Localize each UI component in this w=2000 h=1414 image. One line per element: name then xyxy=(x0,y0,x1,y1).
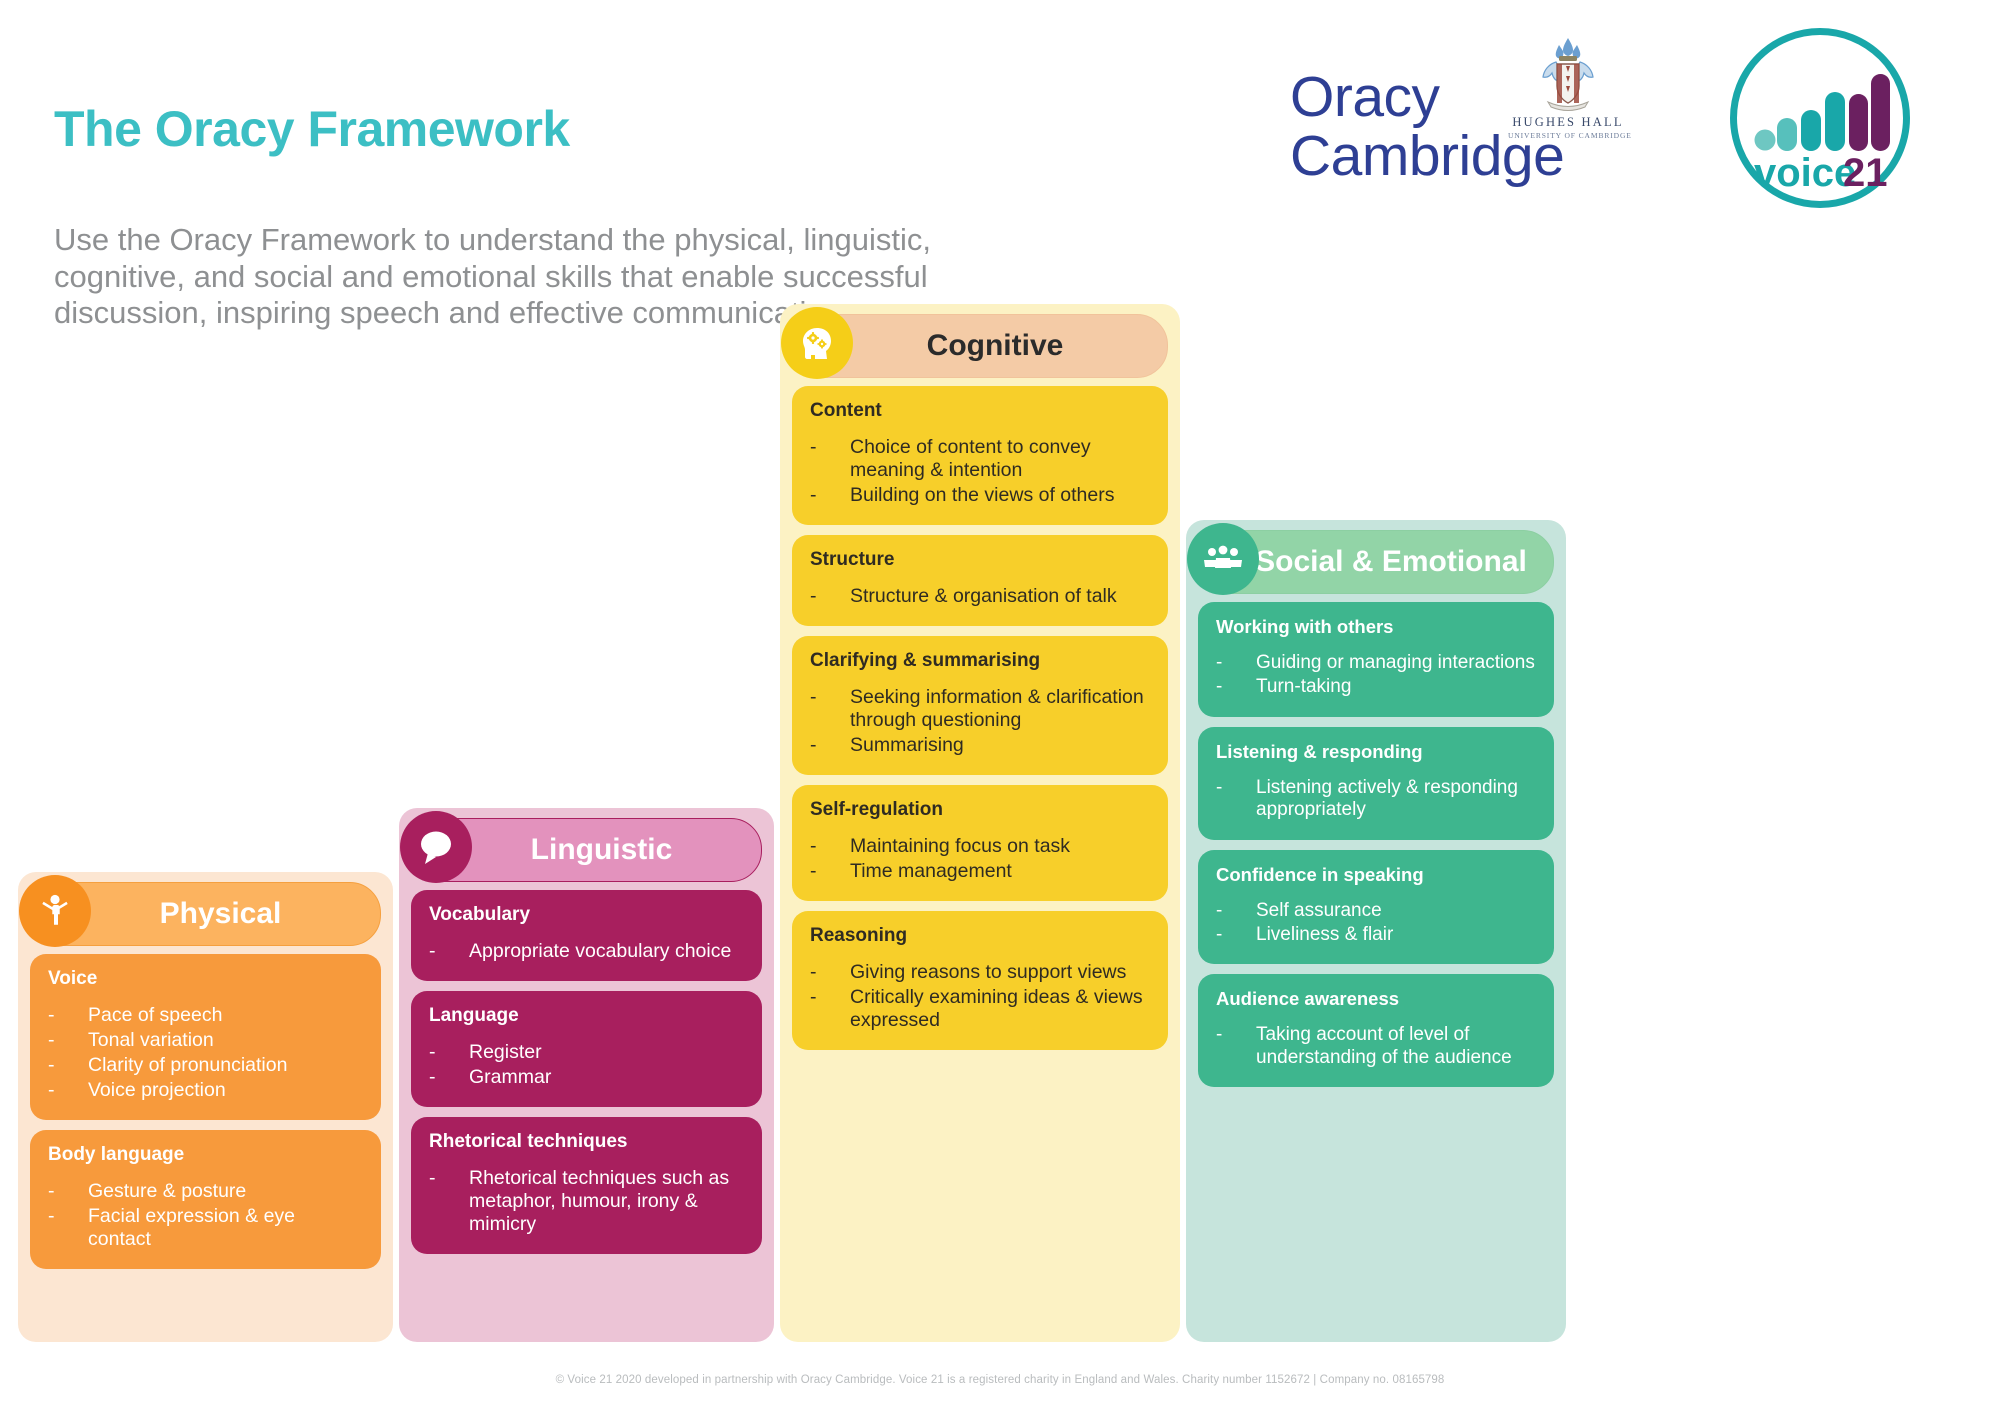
card-confidence-in-speaking: Confidence in speaking -Self assurance -… xyxy=(1198,850,1554,965)
bullet-text: Building on the views of others xyxy=(850,484,1150,507)
bullet-text: Seeking information & clarification thro… xyxy=(850,686,1150,732)
hughes-hall-sub: UNIVERSITY OF CAMBRIDGE xyxy=(1508,131,1628,140)
card-title: Self-regulation xyxy=(810,799,1150,821)
card-title: Rhetorical techniques xyxy=(429,1131,744,1153)
bullet-marker: - xyxy=(810,860,850,883)
bullet-item: -Pace of speech xyxy=(48,1004,363,1027)
strand-title-physical: Physical xyxy=(130,897,282,931)
hughes-hall-crest-icon xyxy=(1532,36,1604,114)
svg-text:21: 21 xyxy=(1843,151,1888,195)
card-language: Language -Register -Grammar xyxy=(411,991,762,1107)
bullet-marker: - xyxy=(810,484,850,507)
bullet-text: Register xyxy=(469,1041,744,1064)
voice21-wordmark: voice 21 xyxy=(1730,28,1910,208)
card-reasoning: Reasoning -Giving reasons to support vie… xyxy=(792,911,1168,1050)
bullet-item: -Guiding or managing interactions xyxy=(1216,652,1536,674)
bullet-item: -Grammar xyxy=(429,1066,744,1089)
bullet-text: Giving reasons to support views xyxy=(850,961,1150,984)
bullet-item: -Tonal variation xyxy=(48,1029,363,1052)
bullet-item: -Rhetorical techniques such as metaphor,… xyxy=(429,1167,744,1236)
card-listening-responding: Listening & responding -Listening active… xyxy=(1198,727,1554,840)
bullet-text: Appropriate vocabulary choice xyxy=(469,940,744,963)
bullet-item: -Liveliness & flair xyxy=(1216,924,1536,946)
voice21-logo: voice 21 xyxy=(1730,28,1910,208)
bullet-item: -Maintaining focus on task xyxy=(810,835,1150,858)
strand-physical: Physical Voice -Pace of speech -Tonal va… xyxy=(18,872,393,1342)
bullet-marker: - xyxy=(810,986,850,1032)
bullet-marker: - xyxy=(810,436,850,482)
bullet-item: -Critically examining ideas & views expr… xyxy=(810,986,1150,1032)
bullet-item: -Listening actively & responding appropr… xyxy=(1216,777,1536,822)
page-title: The Oracy Framework xyxy=(54,100,570,158)
bullet-text: Listening actively & responding appropri… xyxy=(1256,777,1536,822)
bullet-marker: - xyxy=(1216,1024,1256,1069)
strand-cognitive: Cognitive Content -Choice of content to … xyxy=(780,304,1180,1342)
bullet-marker: - xyxy=(810,585,850,608)
bullet-marker: - xyxy=(48,1004,88,1027)
bullet-marker: - xyxy=(1216,777,1256,822)
card-working-with-others: Working with others -Guiding or managing… xyxy=(1198,602,1554,717)
bullet-text: Self assurance xyxy=(1256,900,1536,922)
bullet-marker: - xyxy=(1216,652,1256,674)
card-title: Clarifying & summarising xyxy=(810,650,1150,672)
bullet-item: -Clarity of pronunciation xyxy=(48,1054,363,1077)
bullet-text: Structure & organisation of talk xyxy=(850,585,1150,608)
card-body-language: Body language -Gesture & posture -Facial… xyxy=(30,1130,381,1269)
bullet-marker: - xyxy=(810,686,850,732)
card-audience-awareness: Audience awareness -Taking account of le… xyxy=(1198,974,1554,1087)
bullet-item: -Time management xyxy=(810,860,1150,883)
bullet-text: Guiding or managing interactions xyxy=(1256,652,1536,674)
card-title: Audience awareness xyxy=(1216,988,1536,1010)
bullet-marker: - xyxy=(810,835,850,858)
strand-title-social-emotional: Social & Emotional xyxy=(1225,545,1527,579)
strand-title-cognitive: Cognitive xyxy=(897,329,1064,363)
bullet-text: Rhetorical techniques such as metaphor, … xyxy=(469,1167,744,1236)
card-rhetorical-techniques: Rhetorical techniques -Rhetorical techni… xyxy=(411,1117,762,1254)
bullet-marker: - xyxy=(48,1054,88,1077)
bullet-text: Time management xyxy=(850,860,1150,883)
strand-header-physical: Physical xyxy=(30,882,381,946)
group-of-people-icon xyxy=(1187,523,1259,595)
strand-header-social-emotional: Social & Emotional xyxy=(1198,530,1554,594)
person-arms-raised-icon xyxy=(19,875,91,947)
bullet-marker: - xyxy=(48,1205,88,1251)
bullet-text: Critically examining ideas & views expre… xyxy=(850,986,1150,1032)
bullet-text: Choice of content to convey meaning & in… xyxy=(850,436,1150,482)
bullet-marker: - xyxy=(429,1041,469,1064)
card-title: Content xyxy=(810,400,1150,422)
bullet-item: -Register xyxy=(429,1041,744,1064)
strand-linguistic: Linguistic Vocabulary -Appropriate vocab… xyxy=(399,808,774,1342)
bullet-text: Grammar xyxy=(469,1066,744,1089)
card-title: Confidence in speaking xyxy=(1216,864,1536,886)
bullet-text: Taking account of level of understanding… xyxy=(1256,1024,1536,1069)
bullet-marker: - xyxy=(429,1167,469,1236)
bullet-marker: - xyxy=(1216,676,1256,698)
bullet-text: Voice projection xyxy=(88,1079,363,1102)
card-vocabulary: Vocabulary -Appropriate vocabulary choic… xyxy=(411,890,762,981)
bullet-marker: - xyxy=(48,1079,88,1102)
card-title: Listening & responding xyxy=(1216,741,1536,763)
hughes-hall-logo: HUGHES HALL UNIVERSITY OF CAMBRIDGE xyxy=(1508,36,1628,146)
bullet-item: -Structure & organisation of talk xyxy=(810,585,1150,608)
bullet-marker: - xyxy=(1216,924,1256,946)
hughes-hall-name: HUGHES HALL xyxy=(1508,115,1628,130)
bullet-text: Clarity of pronunciation xyxy=(88,1054,363,1077)
bullet-item: -Choice of content to convey meaning & i… xyxy=(810,436,1150,482)
bullet-marker: - xyxy=(48,1180,88,1203)
bullet-item: -Building on the views of others xyxy=(810,484,1150,507)
strand-title-linguistic: Linguistic xyxy=(501,833,673,867)
bullet-item: -Appropriate vocabulary choice xyxy=(429,940,744,963)
bullet-item: -Summarising xyxy=(810,734,1150,757)
card-self-regulation: Self-regulation -Maintaining focus on ta… xyxy=(792,785,1168,901)
bullet-item: -Gesture & posture xyxy=(48,1180,363,1203)
bullet-marker: - xyxy=(48,1029,88,1052)
bullet-marker: - xyxy=(810,734,850,757)
bullet-text: Turn-taking xyxy=(1256,676,1536,698)
bullet-item: -Turn-taking xyxy=(1216,676,1536,698)
bullet-text: Maintaining focus on task xyxy=(850,835,1150,858)
card-title: Voice xyxy=(48,968,363,990)
bullet-marker: - xyxy=(810,961,850,984)
card-content: Content -Choice of content to convey mea… xyxy=(792,386,1168,525)
card-title: Working with others xyxy=(1216,616,1536,638)
card-title: Reasoning xyxy=(810,925,1150,947)
bullet-marker: - xyxy=(429,1066,469,1089)
card-title: Vocabulary xyxy=(429,904,744,926)
strand-header-linguistic: Linguistic xyxy=(411,818,762,882)
card-title: Language xyxy=(429,1005,744,1027)
card-title: Structure xyxy=(810,549,1150,571)
bullet-text: Gesture & posture xyxy=(88,1180,363,1203)
strand-social-emotional: Social & Emotional Working with others -… xyxy=(1186,520,1566,1342)
bullet-item: -Seeking information & clarification thr… xyxy=(810,686,1150,732)
card-clarifying-summarising: Clarifying & summarising -Seeking inform… xyxy=(792,636,1168,775)
card-title: Body language xyxy=(48,1144,363,1166)
bullet-text: Pace of speech xyxy=(88,1004,363,1027)
bullet-item: -Self assurance xyxy=(1216,900,1536,922)
footer-copyright: © Voice 21 2020 developed in partnership… xyxy=(0,1374,2000,1386)
head-with-gears-icon xyxy=(781,307,853,379)
bullet-item: -Taking account of level of understandin… xyxy=(1216,1024,1536,1069)
card-voice: Voice -Pace of speech -Tonal variation -… xyxy=(30,954,381,1120)
bullet-text: Tonal variation xyxy=(88,1029,363,1052)
svg-text:voice: voice xyxy=(1754,151,1856,195)
bullet-item: -Facial expression & eye contact xyxy=(48,1205,363,1251)
bullet-text: Facial expression & eye contact xyxy=(88,1205,363,1251)
speech-bubble-icon xyxy=(400,811,472,883)
bullet-marker: - xyxy=(429,940,469,963)
bullet-item: -Giving reasons to support views xyxy=(810,961,1150,984)
card-structure: Structure -Structure & organisation of t… xyxy=(792,535,1168,626)
bullet-item: -Voice projection xyxy=(48,1079,363,1102)
bullet-marker: - xyxy=(1216,900,1256,922)
bullet-text: Summarising xyxy=(850,734,1150,757)
strand-header-cognitive: Cognitive xyxy=(792,314,1168,378)
bullet-text: Liveliness & flair xyxy=(1256,924,1536,946)
